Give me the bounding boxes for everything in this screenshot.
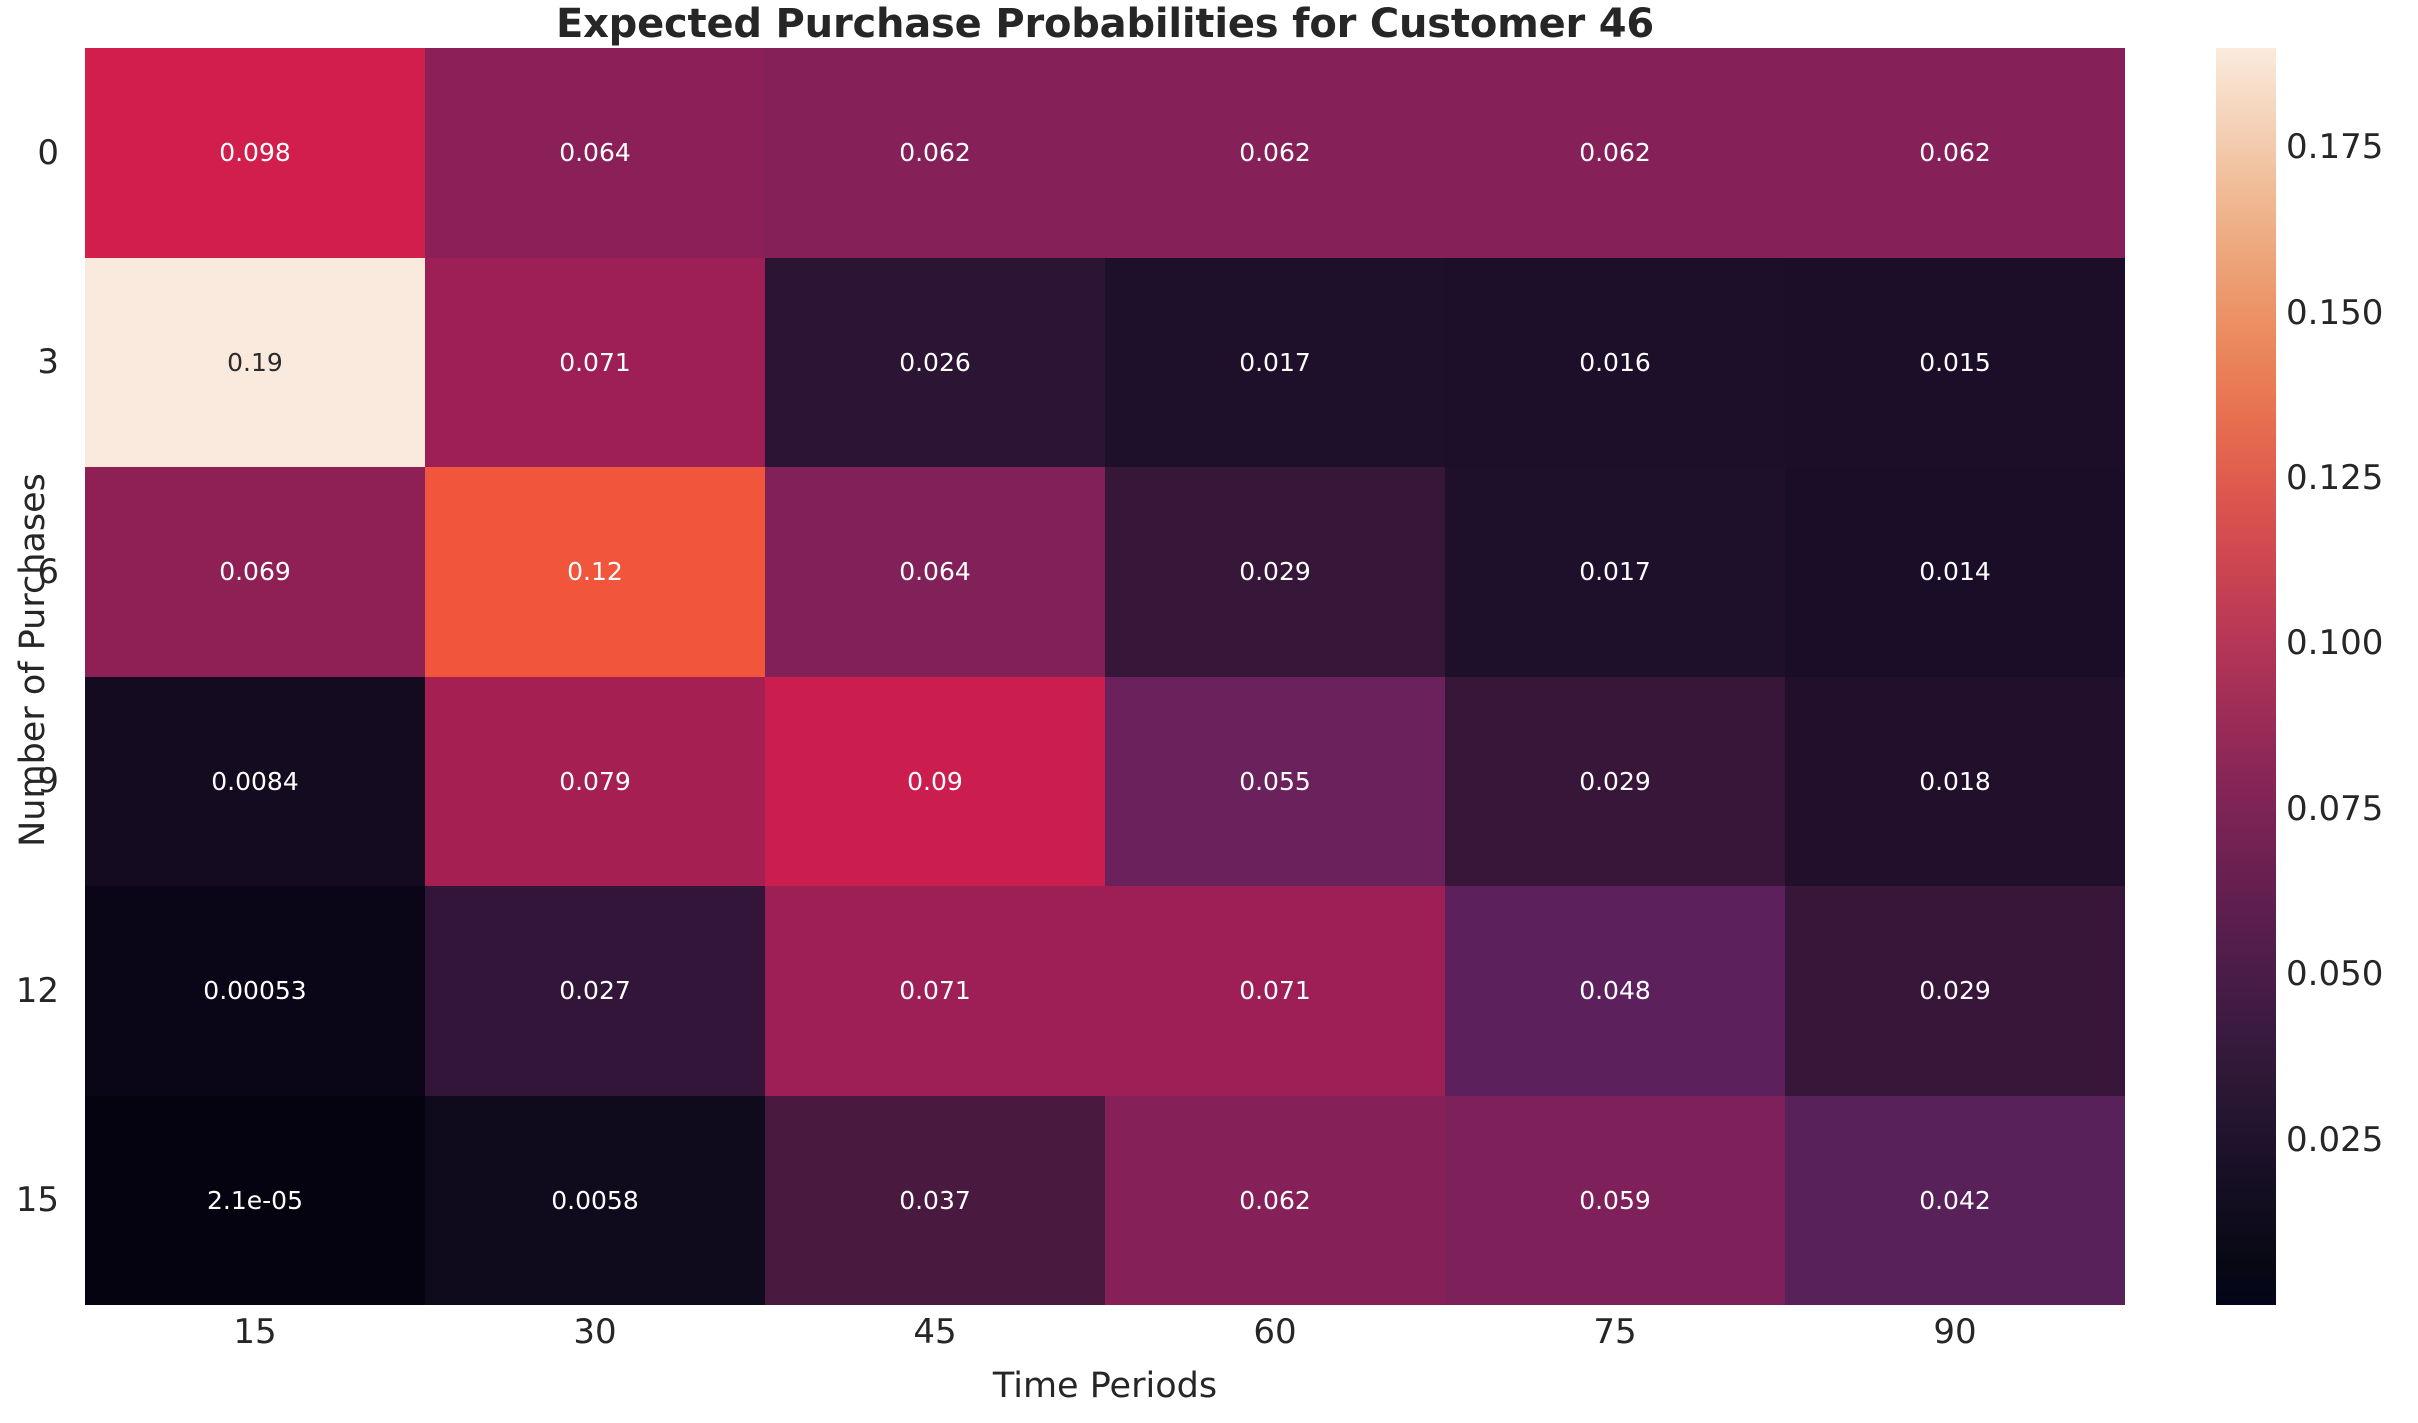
x-axis-label: Time Periods [85, 1366, 2125, 1406]
heatmap-cell-value: 0.055 [1239, 769, 1311, 794]
heatmap-cell-value: 0.071 [559, 350, 631, 375]
heatmap-cell: 0.042 [1785, 1096, 2125, 1306]
heatmap-figure: Expected Purchase Probabilities for Cust… [0, 0, 2418, 1423]
heatmap-cell-value: 0.079 [559, 769, 631, 794]
heatmap-cell: 0.062 [765, 48, 1105, 258]
heatmap-cell-value: 0.018 [1919, 769, 1991, 794]
heatmap-cell: 0.018 [1785, 677, 2125, 887]
heatmap-cell-value: 0.19 [227, 350, 283, 375]
heatmap-cell-value: 0.071 [1239, 978, 1311, 1003]
heatmap-cell: 0.029 [1105, 467, 1445, 677]
heatmap-cell: 0.0058 [425, 1096, 765, 1306]
heatmap-cell-value: 0.029 [1579, 769, 1651, 794]
heatmap-cell-value: 0.015 [1919, 350, 1991, 375]
heatmap-cell: 0.062 [1105, 1096, 1445, 1306]
heatmap-cell: 0.014 [1785, 467, 2125, 677]
colorbar-tick-labels: 0.1750.1500.1250.1000.0750.0500.025 [2286, 48, 2416, 1305]
y-axis-tick-labels: 03691215 [0, 48, 73, 1305]
y-axis-tick: 12 [0, 886, 73, 1096]
heatmap-cell: 0.071 [1105, 886, 1445, 1096]
heatmap-cell: 0.062 [1105, 48, 1445, 258]
heatmap-cell-value: 0.042 [1919, 1188, 1991, 1213]
heatmap-cell-value: 0.062 [1239, 140, 1311, 165]
heatmap-cell-value: 0.016 [1579, 350, 1651, 375]
heatmap-cell-value: 0.029 [1919, 978, 1991, 1003]
colorbar-tick: 0.025 [2286, 1120, 2383, 1160]
heatmap-cell: 0.071 [765, 886, 1105, 1096]
heatmap-cell: 0.064 [765, 467, 1105, 677]
heatmap-cell: 0.027 [425, 886, 765, 1096]
colorbar-tick: 0.125 [2286, 458, 2383, 498]
heatmap-cell: 0.071 [425, 258, 765, 468]
x-axis-tick-labels: 153045607590 [85, 1312, 2125, 1360]
heatmap-cell: 0.09 [765, 677, 1105, 887]
x-axis-tick: 30 [425, 1312, 765, 1360]
heatmap-grid: 0.0980.0640.0620.0620.0620.0620.190.0710… [85, 48, 2125, 1305]
heatmap-cell-value: 0.037 [899, 1188, 971, 1213]
heatmap-cell: 0.062 [1445, 48, 1785, 258]
heatmap-cell: 0.037 [765, 1096, 1105, 1306]
heatmap-cell-value: 0.062 [1239, 1188, 1311, 1213]
heatmap-cell: 0.017 [1445, 467, 1785, 677]
heatmap-cell-value: 0.026 [899, 350, 971, 375]
y-axis-tick: 6 [0, 467, 73, 677]
heatmap-cell: 0.016 [1445, 258, 1785, 468]
heatmap-cell: 0.029 [1785, 886, 2125, 1096]
heatmap-cell-value: 0.029 [1239, 559, 1311, 584]
heatmap-cell-value: 0.0084 [211, 769, 298, 794]
heatmap-cell: 0.00053 [85, 886, 425, 1096]
heatmap-cell-value: 0.062 [1919, 140, 1991, 165]
heatmap-cell-value: 0.027 [559, 978, 631, 1003]
colorbar-tick: 0.075 [2286, 789, 2383, 829]
heatmap-cell: 0.029 [1445, 677, 1785, 887]
heatmap-cell: 0.12 [425, 467, 765, 677]
y-axis-tick: 0 [0, 48, 73, 258]
y-axis-tick: 15 [0, 1096, 73, 1306]
y-axis-tick: 9 [0, 677, 73, 887]
heatmap-cell-value: 0.014 [1919, 559, 1991, 584]
x-axis-tick: 60 [1105, 1312, 1445, 1360]
heatmap-cell: 0.026 [765, 258, 1105, 468]
heatmap-cell: 0.064 [425, 48, 765, 258]
heatmap-cell-value: 0.062 [1579, 140, 1651, 165]
heatmap-cell: 0.048 [1445, 886, 1785, 1096]
x-axis-tick: 15 [85, 1312, 425, 1360]
x-axis-tick: 75 [1445, 1312, 1785, 1360]
heatmap-cell: 0.069 [85, 467, 425, 677]
heatmap-cell: 0.0084 [85, 677, 425, 887]
heatmap-cell: 0.017 [1105, 258, 1445, 468]
heatmap-cell: 0.015 [1785, 258, 2125, 468]
heatmap-cell: 0.055 [1105, 677, 1445, 887]
heatmap-cell: 0.059 [1445, 1096, 1785, 1306]
heatmap-cell-value: 0.00053 [203, 978, 306, 1003]
heatmap-cell-value: 0.064 [899, 559, 971, 584]
colorbar [2216, 48, 2276, 1305]
heatmap-cell: 0.19 [85, 258, 425, 468]
heatmap-cell-value: 0.064 [559, 140, 631, 165]
x-axis-tick: 90 [1785, 1312, 2125, 1360]
heatmap-cell-value: 0.062 [899, 140, 971, 165]
heatmap-cell-value: 0.12 [567, 559, 623, 584]
heatmap-cell-value: 0.098 [219, 140, 291, 165]
heatmap-cell-value: 2.1e-05 [207, 1188, 303, 1213]
page-title: Expected Purchase Probabilities for Cust… [85, 2, 2125, 46]
heatmap-cell-value: 0.069 [219, 559, 291, 584]
heatmap-cell-value: 0.017 [1239, 350, 1311, 375]
heatmap-cell-value: 0.048 [1579, 978, 1651, 1003]
heatmap-cell-value: 0.0058 [551, 1188, 638, 1213]
y-axis-tick: 3 [0, 258, 73, 468]
colorbar-tick: 0.050 [2286, 954, 2383, 994]
heatmap-cell-value: 0.059 [1579, 1188, 1651, 1213]
colorbar-tick: 0.175 [2286, 127, 2383, 167]
colorbar-tick: 0.100 [2286, 623, 2383, 663]
heatmap-cell: 2.1e-05 [85, 1096, 425, 1306]
heatmap-cell: 0.062 [1785, 48, 2125, 258]
x-axis-tick: 45 [765, 1312, 1105, 1360]
heatmap-cell: 0.098 [85, 48, 425, 258]
heatmap-cell-value: 0.017 [1579, 559, 1651, 584]
heatmap-cell-value: 0.071 [899, 978, 971, 1003]
heatmap-cell: 0.079 [425, 677, 765, 887]
colorbar-gradient [2216, 48, 2276, 1305]
heatmap-cell-value: 0.09 [907, 769, 963, 794]
colorbar-tick: 0.150 [2286, 293, 2383, 333]
